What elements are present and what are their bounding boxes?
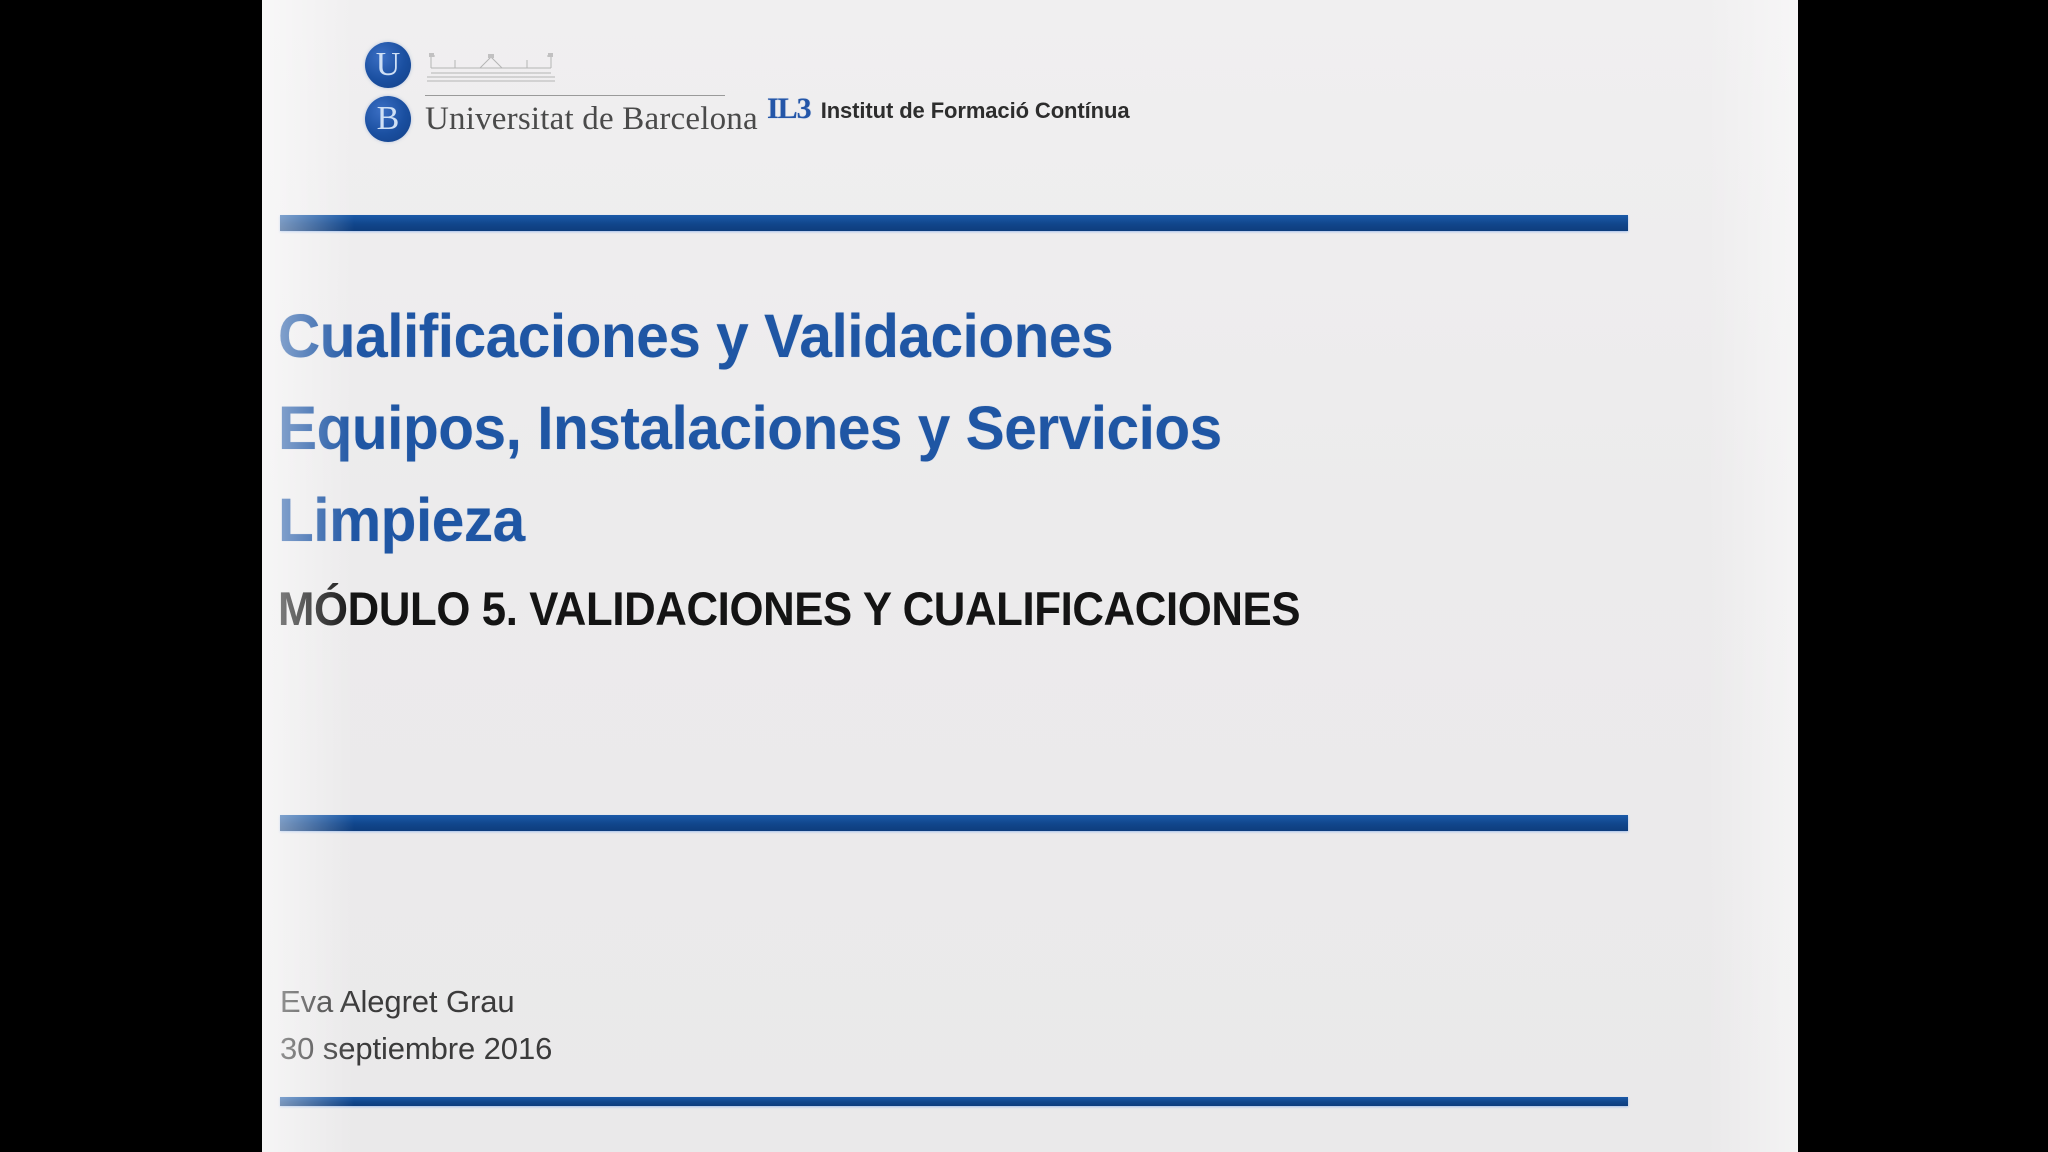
- il3-logo: IL3 Institut de Formació Contínua: [767, 92, 1129, 126]
- divider-middle: [280, 815, 1628, 831]
- ub-logo-bottom-row: B Universitat de Barcelona: [365, 92, 725, 146]
- ub-logo-top-row: U: [365, 38, 725, 92]
- il3-tagline: Institut de Formació Contínua: [821, 98, 1130, 124]
- presentation-date: 30 septiembre 2016: [280, 1025, 552, 1072]
- ub-institution-name: Universitat de Barcelona: [425, 101, 758, 138]
- ub-logo: U: [365, 38, 725, 146]
- title-line-2: Equipos, Instalaciones y Servicios: [278, 382, 1641, 474]
- title-line-1: Cualificaciones y Validaciones: [278, 290, 1641, 382]
- slide-subtitle: MÓDULO 5. VALIDACIONES Y CUALIFICACIONES: [278, 572, 1599, 646]
- divider-bottom: [280, 1097, 1628, 1106]
- letterbox-left: [0, 0, 262, 1152]
- logo-header: U: [365, 38, 725, 146]
- video-stage: U: [0, 0, 2048, 1152]
- ub-badge-b: B: [365, 96, 411, 142]
- letterbox-right: [1798, 0, 2048, 1152]
- ub-logo-divider: [425, 95, 725, 96]
- title-line-3: Limpieza: [278, 474, 1641, 566]
- presentation-slide: U: [262, 0, 1798, 1152]
- slide-footer: Eva Alegret Grau 30 septiembre 2016: [280, 978, 552, 1072]
- author-name: Eva Alegret Grau: [280, 978, 552, 1025]
- title-block: Cualificaciones y Validaciones Equipos, …: [278, 290, 1698, 646]
- university-building-icon: [425, 48, 557, 82]
- divider-top: [280, 215, 1628, 231]
- il3-wordmark: IL3: [767, 92, 811, 126]
- ub-badge-u: U: [365, 42, 411, 88]
